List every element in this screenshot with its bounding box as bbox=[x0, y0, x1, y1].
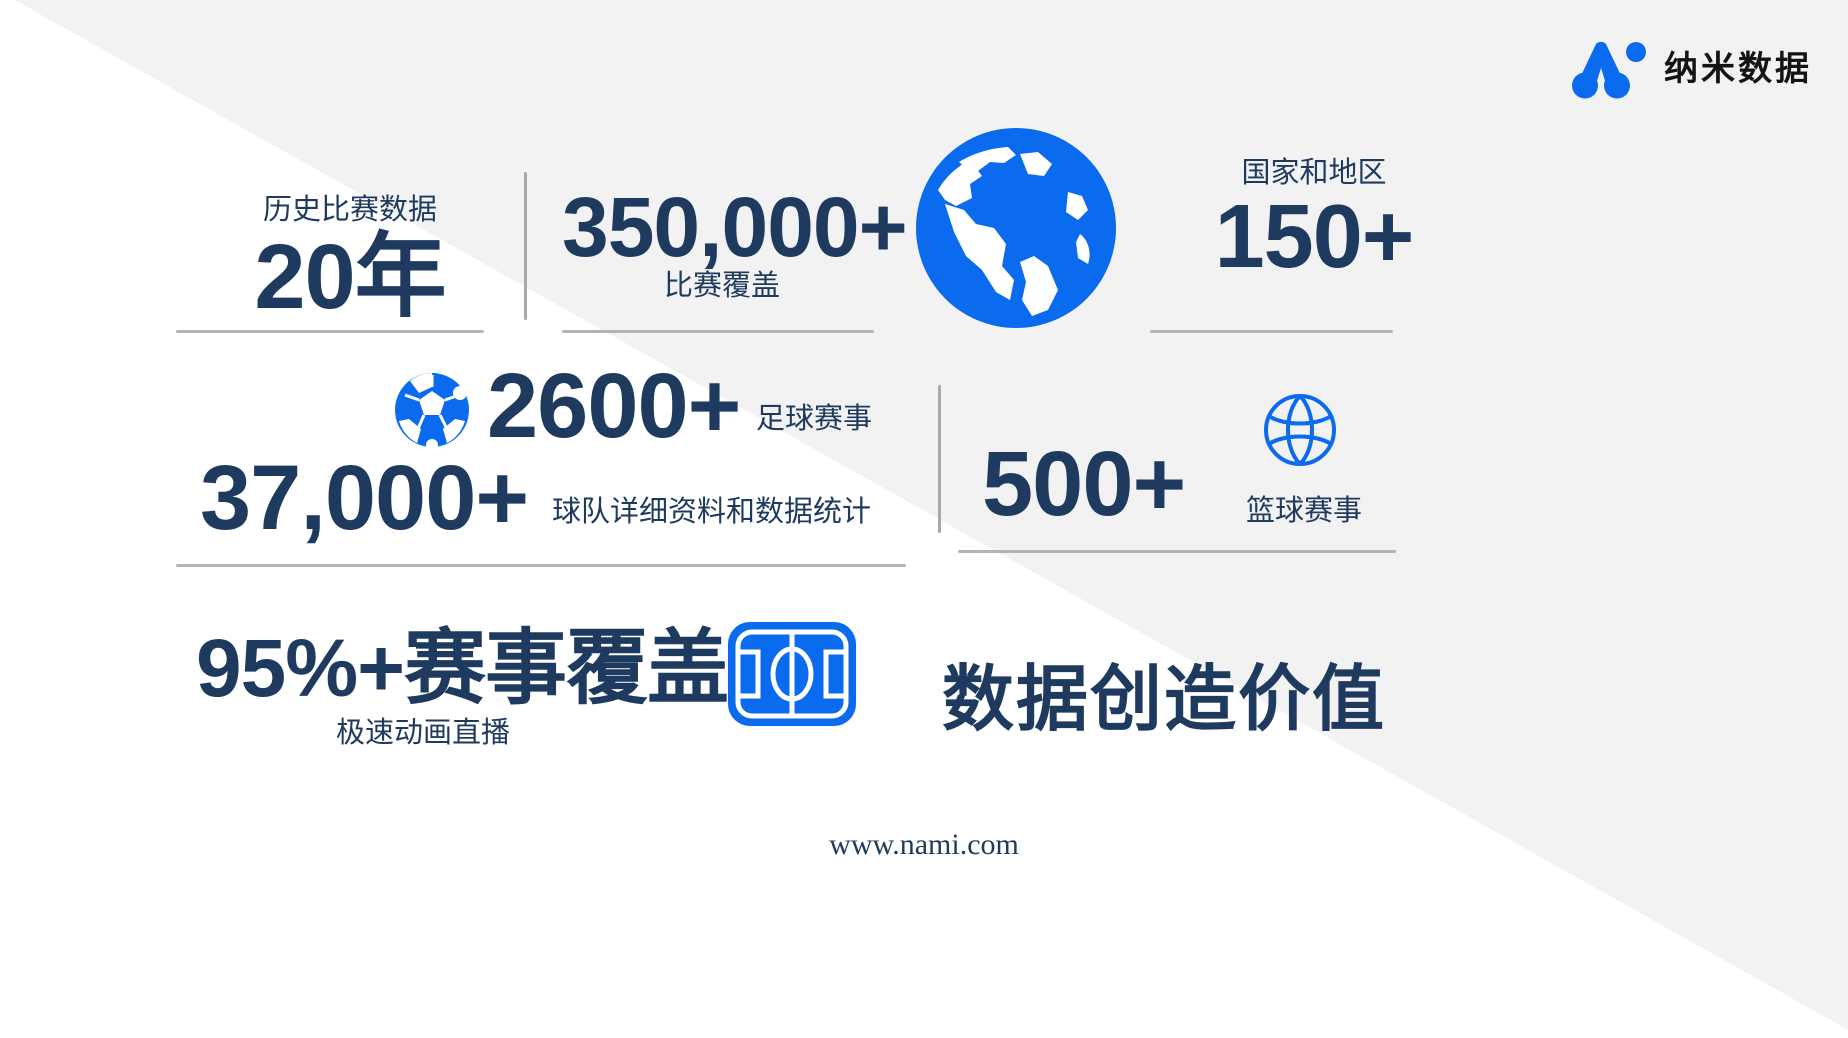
basketball-icon bbox=[1262, 392, 1338, 468]
stat-teams-value: 37,000+ bbox=[200, 452, 528, 544]
divider-line-row1-left bbox=[176, 330, 484, 333]
infographic-slide: 纳米数据 历史比赛数据 20年 350,000+ 比赛覆盖 国 bbox=[0, 0, 1848, 1038]
stat-match-coverage: 350,000+ 比赛覆盖 bbox=[562, 185, 882, 303]
divider-line-row1-right bbox=[1150, 330, 1393, 333]
divider-line-row2-right bbox=[958, 550, 1396, 553]
soccer-ball-icon bbox=[393, 371, 471, 449]
nami-n-mark-icon bbox=[1572, 38, 1646, 100]
stat-coverage-value: 95%+赛事覆盖 bbox=[196, 628, 728, 710]
vertical-divider-2 bbox=[938, 385, 941, 533]
divider-line-row1-mid bbox=[562, 330, 874, 333]
tagline: 数据创造价值 bbox=[942, 640, 1386, 745]
soccer-pitch-icon bbox=[726, 620, 858, 728]
stat-basketball-competitions-value: 500+ bbox=[982, 438, 1185, 530]
stat-match-coverage-label: 比赛覆盖 bbox=[562, 271, 882, 303]
stat-history-matches: 历史比赛数据 20年 bbox=[200, 195, 500, 323]
stat-teams-label: 球队详细资料和数据统计 bbox=[552, 497, 871, 529]
stat-history-value: 20年 bbox=[200, 231, 500, 323]
brand-name: 纳米数据 bbox=[1664, 52, 1812, 86]
stat-match-coverage-value: 350,000+ bbox=[562, 185, 882, 269]
stat-coverage-label: 极速动画直播 bbox=[336, 718, 510, 750]
stat-countries-label: 国家和地区 bbox=[1150, 158, 1478, 190]
stat-football-competitions-value: 2600+ bbox=[487, 360, 740, 452]
stat-countries: 国家和地区 150+ bbox=[1150, 158, 1478, 282]
divider-line-row2-left bbox=[176, 564, 906, 567]
vertical-divider-1 bbox=[524, 172, 527, 320]
stat-history-label: 历史比赛数据 bbox=[200, 195, 500, 227]
stat-teams-value-wrap: 37,000+ bbox=[200, 452, 528, 544]
stat-basketball-competitions-value-wrap: 500+ bbox=[982, 438, 1185, 530]
stat-football-competitions-label: 足球赛事 bbox=[756, 404, 872, 436]
globe-icon bbox=[912, 124, 1120, 332]
stat-countries-value: 150+ bbox=[1150, 192, 1478, 282]
footer-website-url[interactable]: www.nami.com bbox=[0, 828, 1848, 862]
stat-football-competitions-value-wrap: 2600+ bbox=[487, 360, 740, 452]
stat-basketball-competitions-label: 篮球赛事 bbox=[1246, 496, 1362, 528]
stat-coverage-value-wrap: 95%+赛事覆盖 bbox=[196, 628, 728, 710]
brand-logo: 纳米数据 bbox=[1572, 38, 1812, 100]
